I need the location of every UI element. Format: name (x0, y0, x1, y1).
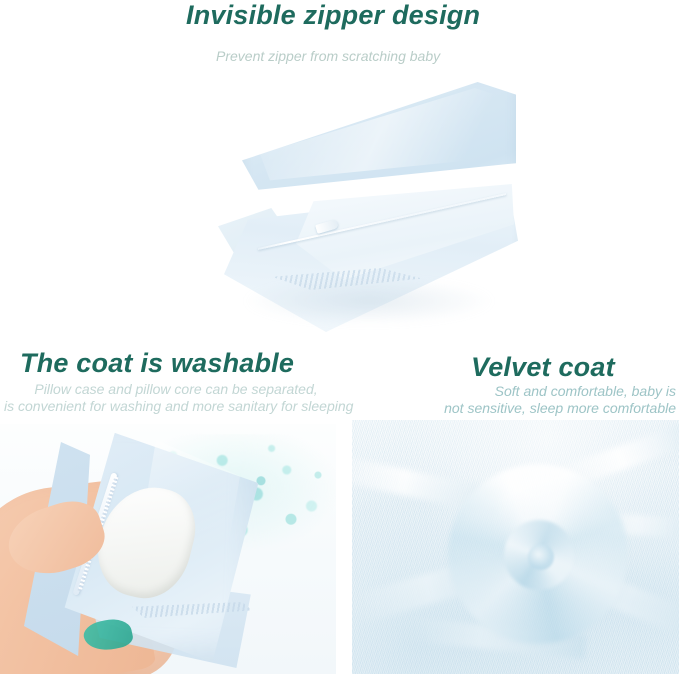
zipper-product-photo (0, 72, 679, 344)
velvet-subtitle: Soft and comfortable, baby is not sensit… (340, 383, 676, 417)
washable-subtitle: Pillow case and pillow core can be separ… (4, 381, 348, 415)
invisible-zipper-seam (258, 200, 510, 266)
velvet-subtitle-line-2: not sensitive, sleep more comfortable (340, 400, 676, 417)
washable-title: The coat is washable (20, 348, 294, 378)
pillowcase-drop-shadow (246, 278, 492, 324)
washable-subtitle-line-1: Pillow case and pillow core can be separ… (4, 381, 348, 398)
washable-product-photo (0, 424, 336, 674)
velvet-title: Velvet coat (471, 352, 615, 382)
velvet-color-tint (352, 420, 679, 674)
velvet-fabric-photo (352, 420, 679, 674)
page-subtitle: Prevent zipper from scratching baby (216, 47, 440, 65)
velvet-subtitle-line-1: Soft and comfortable, baby is (340, 383, 676, 400)
page-title: Invisible zipper design (186, 0, 480, 30)
washable-subtitle-line-2: is convenient for washing and more sanit… (4, 398, 348, 415)
pillowcase-illustration (200, 82, 520, 332)
